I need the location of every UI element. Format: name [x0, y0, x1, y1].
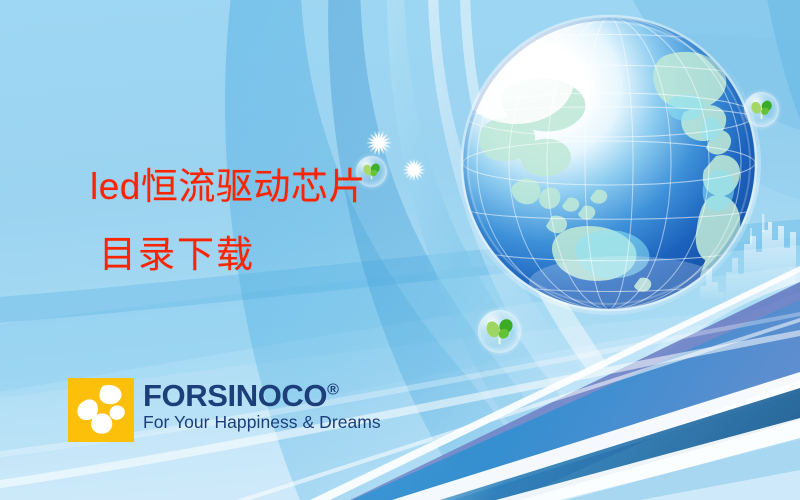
sparkle-star-upper	[366, 130, 392, 156]
green-sprout-icon	[744, 92, 779, 127]
headline-line-2: 目录下载	[90, 234, 366, 276]
promo-banner: led恒流驱动芯片 目录下载 FORSINOCO®	[0, 0, 800, 500]
headline-line-1: led恒流驱动芯片	[90, 166, 366, 208]
brand-name-text: FORSINOCO	[143, 378, 327, 413]
four-petal-flower-icon	[68, 378, 134, 442]
bubble-leaf-bottom	[478, 310, 521, 353]
bubble-leaf-topright	[744, 92, 779, 127]
headline-text: led恒流驱动芯片 目录下载	[90, 166, 366, 276]
company-logo: FORSINOCO® For Your Happiness & Dreams	[68, 378, 381, 442]
brand-name: FORSINOCO®	[143, 380, 381, 411]
logo-wordmark: FORSINOCO® For Your Happiness & Dreams	[143, 378, 381, 433]
brand-tagline: For Your Happiness & Dreams	[143, 412, 381, 433]
registered-trademark-icon: ®	[327, 382, 339, 399]
sparkle-star-lower	[402, 158, 425, 181]
green-sprout-icon	[478, 310, 521, 353]
